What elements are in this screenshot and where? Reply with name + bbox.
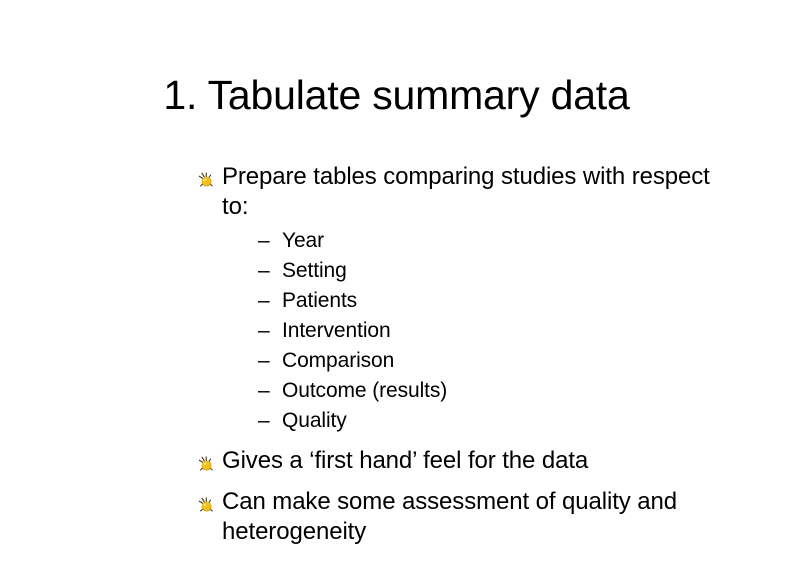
list-item: – Outcome (results): [258, 376, 736, 406]
bullet-label: Prepare tables comparing studies with re…: [222, 163, 710, 220]
sub-bullet-label: Outcome (results): [282, 379, 447, 402]
slide-body: Prepare tables comparing studies with re…: [196, 162, 736, 547]
bullet-item: Can make some assessment of quality and …: [196, 487, 736, 547]
list-item: – Comparison: [258, 346, 736, 376]
sub-bullet-list: – Year – Setting – Patients – Interventi…: [222, 226, 736, 436]
bullet-label: Gives a ‘first hand’ feel for the data: [222, 447, 588, 474]
page-title: 1. Tabulate summary data: [0, 72, 793, 118]
dash-icon: –: [258, 346, 270, 376]
dash-icon: –: [258, 286, 270, 316]
bullet-label: Can make some assessment of quality and …: [222, 488, 677, 545]
sub-bullet-label: Comparison: [282, 349, 394, 372]
bullet-item: Gives a ‘first hand’ feel for the data: [196, 446, 736, 476]
dash-icon: –: [258, 256, 270, 286]
bee-icon: [198, 167, 215, 184]
bee-icon: [198, 451, 215, 468]
dash-icon: –: [258, 226, 270, 256]
list-item: – Year: [258, 226, 736, 256]
sub-bullet-label: Patients: [282, 289, 357, 312]
sub-bullet-label: Setting: [282, 259, 347, 282]
list-item: – Setting: [258, 256, 736, 286]
slide-canvas: 1. Tabulate summary data: [0, 0, 793, 561]
dash-icon: –: [258, 406, 270, 436]
bee-icon: [198, 492, 215, 509]
bullet-item: Prepare tables comparing studies with re…: [196, 162, 736, 436]
list-item: – Quality: [258, 406, 736, 436]
sub-bullet-label: Quality: [282, 409, 347, 432]
list-item: – Intervention: [258, 316, 736, 346]
dash-icon: –: [258, 376, 270, 406]
sub-bullet-label: Year: [282, 229, 324, 252]
sub-bullet-label: Intervention: [282, 319, 391, 342]
list-item: – Patients: [258, 286, 736, 316]
dash-icon: –: [258, 316, 270, 346]
